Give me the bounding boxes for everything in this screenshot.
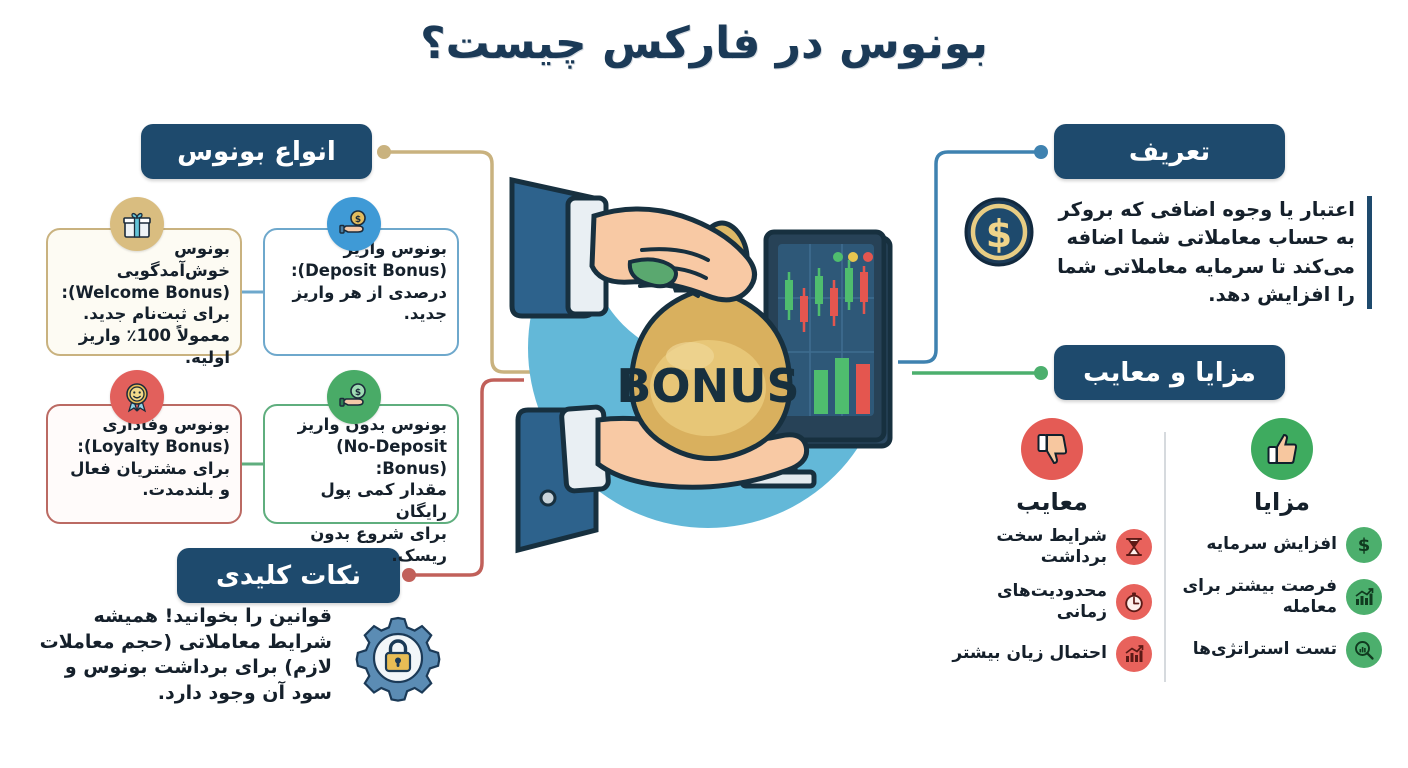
list-item[interactable]: محدودیت‌های زمانی: [952, 581, 1152, 624]
card-line-2: (Deposit Bonus):: [275, 260, 447, 282]
magnifier-chart-icon: [1346, 632, 1382, 668]
card-line-4: جدید.: [275, 303, 447, 325]
list-item-label: فرصت بیشتر برای معامله: [1182, 576, 1337, 619]
thumbs-down-icon: [1021, 418, 1083, 480]
svg-text:$: $: [1358, 535, 1371, 556]
list-item[interactable]: $ افزایش سرمایه: [1182, 526, 1382, 564]
list-item[interactable]: فرصت بیشتر برای معامله: [1182, 576, 1382, 619]
section-badge-pros-cons[interactable]: مزایا و معایب: [1054, 345, 1285, 400]
list-item-label: تست استراتژی‌ها: [1193, 639, 1337, 660]
pros-title: مزایا: [1182, 488, 1382, 516]
hand-coin-green-icon: $: [327, 370, 381, 424]
section-badge-bonus-types[interactable]: انواع بونوس: [141, 124, 372, 179]
list-item-label: محدودیت‌های زمانی: [952, 581, 1107, 624]
card-line-3: درصدی از هر واریز: [275, 282, 447, 304]
pros-cons-divider: [1164, 432, 1166, 682]
list-item[interactable]: تست استراتژی‌ها: [1182, 631, 1382, 669]
cons-title: معایب: [952, 488, 1152, 516]
bonus-bag-label: BONUS: [616, 359, 799, 413]
medal-icon: [110, 370, 164, 424]
growth-chart-icon: [1346, 579, 1382, 615]
loss-chart-icon: [1116, 636, 1152, 672]
pros-list: $ افزایش سرمایه فرصت بیشتر برای معامله: [1182, 526, 1382, 669]
card-colon: :: [61, 283, 68, 302]
section-badge-definition[interactable]: تعریف: [1054, 124, 1285, 179]
hero-illustration: BONUS: [490, 120, 930, 560]
card-line-2: (No-Deposit Bonus):: [275, 436, 447, 480]
gift-icon: [110, 197, 164, 251]
cons-column: معایب شرایط سخت برداشت: [952, 418, 1152, 685]
list-item-label: شرایط سخت برداشت: [952, 526, 1107, 569]
thumbs-up-icon: [1251, 418, 1313, 480]
svg-text:$: $: [355, 215, 361, 225]
card-line-4: معمولاً 100٪ واریز اولیه.: [58, 325, 230, 369]
svg-text:$: $: [355, 388, 361, 398]
card-line-4: برای شروع بدون ریسک.: [275, 523, 447, 567]
dollar-sign-icon: $: [1346, 527, 1382, 563]
infographic-canvas: بونوس در فارکس چیست؟ انواع بونوس نکات کل…: [0, 0, 1408, 768]
key-points-body: قوانین را بخوانید! همیشه شرایط معاملاتی …: [32, 604, 332, 707]
badge-label: مزایا و معایب: [1083, 358, 1256, 388]
list-item-label: افزایش سرمایه: [1206, 534, 1337, 555]
card-line-2: (Loyalty Bonus):: [58, 436, 230, 458]
card-colon: :: [77, 437, 84, 456]
pros-column: مزایا $ افزایش سرمایه: [1182, 418, 1382, 681]
list-item[interactable]: شرایط سخت برداشت: [952, 526, 1152, 569]
card-line-3: برای مشتریان فعال: [58, 458, 230, 480]
definition-body: اعتبار یا وجوه اضافی که بروکر به حساب مع…: [1042, 196, 1372, 309]
hand-coin-icon: $: [327, 197, 381, 251]
card-line-3: برای ثبت‌نام جدید.: [58, 303, 230, 325]
stopwatch-icon: [1116, 584, 1152, 620]
card-line-3: مقدار کمی پول رایگان: [275, 479, 447, 523]
list-item-label: احتمال زیان بیشتر: [952, 643, 1107, 664]
list-item[interactable]: احتمال زیان بیشتر: [952, 635, 1152, 673]
dollar-coin-icon: $: [963, 196, 1035, 268]
svg-text:$: $: [986, 212, 1012, 256]
gear-lock-icon: [352, 612, 444, 704]
cons-list: شرایط سخت برداشت محدودیت‌های زمانی: [952, 526, 1152, 673]
hourglass-icon: [1116, 529, 1152, 565]
card-line-4: و بلندمدت.: [58, 479, 230, 501]
card-colon: :: [291, 261, 298, 280]
card-line-2: (Welcome Bonus):: [58, 282, 230, 304]
badge-label: تعریف: [1129, 137, 1210, 167]
badge-label: انواع بونوس: [177, 137, 336, 167]
